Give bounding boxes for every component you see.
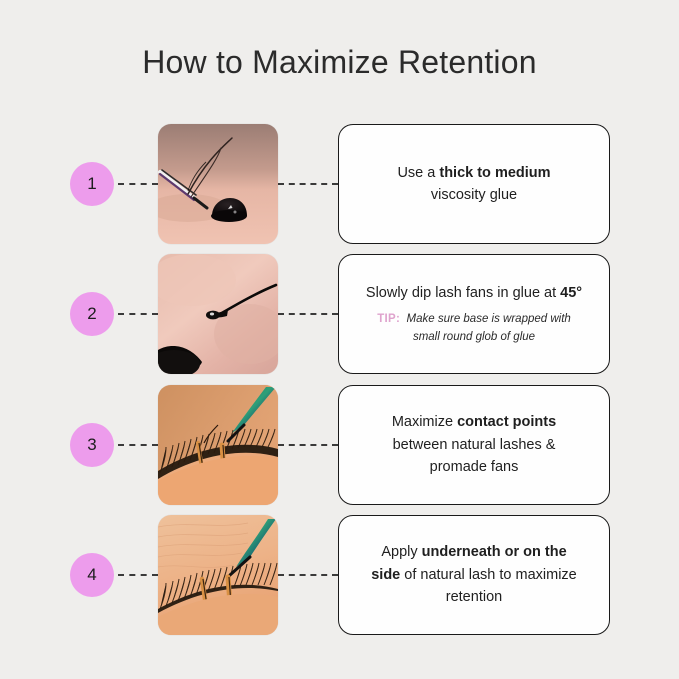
step-text-card-2: Slowly dip lash fans in glue at 45° TIP:…	[338, 254, 610, 374]
infographic-page: How to Maximize Retention 1	[0, 0, 679, 679]
step-number-label-2: 2	[87, 304, 96, 324]
step-number-badge-2: 2	[70, 292, 114, 336]
connector-dashed-left-2	[118, 313, 158, 315]
connector-dashed-left-4	[118, 574, 158, 576]
step-number-label-4: 4	[87, 565, 96, 585]
connector-dashed-right-1	[278, 183, 338, 185]
step-text-3: Maximize contact pointsbetween natural l…	[392, 411, 556, 478]
step-row-3: 3	[0, 385, 679, 505]
step-text-2: Slowly dip lash fans in glue at 45°	[366, 282, 582, 304]
step-row-2: 2	[0, 254, 679, 374]
connector-dashed-right-2	[278, 313, 338, 315]
connector-dashed-right-3	[278, 444, 338, 446]
step-number-label-3: 3	[87, 435, 96, 455]
step-row-1: 1	[0, 124, 679, 244]
step-text-card-4: Apply underneath or on theside of natura…	[338, 515, 610, 635]
page-title: How to Maximize Retention	[0, 44, 679, 81]
step-image-4	[158, 515, 278, 635]
tip-text-2: Make sure base is wrapped withsmall roun…	[403, 313, 570, 342]
step-number-badge-4: 4	[70, 553, 114, 597]
step-tip-2: TIP: Make sure base is wrapped withsmall…	[377, 311, 571, 346]
step-text-card-3: Maximize contact pointsbetween natural l…	[338, 385, 610, 505]
tip-label-2: TIP:	[377, 313, 400, 325]
connector-dashed-right-4	[278, 574, 338, 576]
step-text-card-1: Use a thick to mediumviscosity glue	[338, 124, 610, 244]
step-number-label-1: 1	[87, 174, 96, 194]
step-image-1	[158, 124, 278, 244]
step-image-2	[158, 254, 278, 374]
step-text-1: Use a thick to mediumviscosity glue	[397, 162, 550, 207]
step-text-4: Apply underneath or on theside of natura…	[371, 541, 577, 608]
connector-dashed-left-1	[118, 183, 158, 185]
step-image-3	[158, 385, 278, 505]
step-number-badge-1: 1	[70, 162, 114, 206]
step-number-badge-3: 3	[70, 423, 114, 467]
connector-dashed-left-3	[118, 444, 158, 446]
step-row-4: 4	[0, 515, 679, 635]
